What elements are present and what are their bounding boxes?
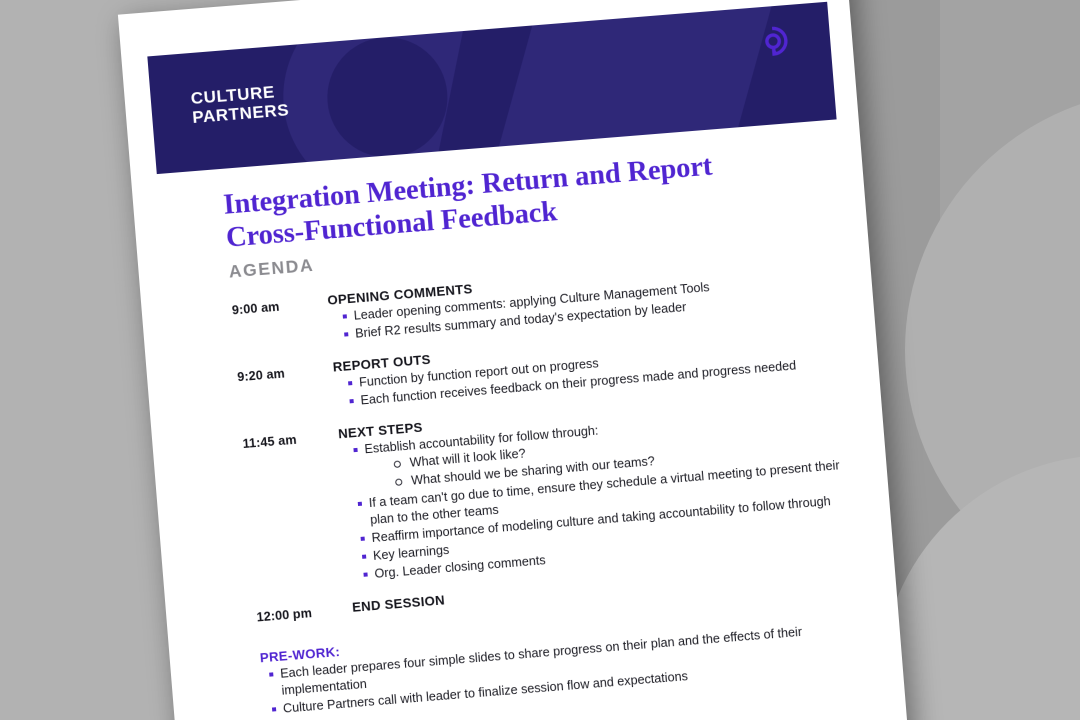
agenda-time: 9:20 am [237,360,334,385]
agenda-row: 11:45 amNEXT STEPSEstablish accountabili… [242,387,847,594]
agenda-list: 9:00 amOPENING COMMENTSLeader opening co… [231,253,849,625]
document-page-wrapper: CULTURE PARTNERS Integration Meeting: Re… [118,0,916,720]
agenda-content: NEXT STEPSEstablish accountability for f… [338,387,847,586]
agenda-time: 11:45 am [242,427,339,452]
background-circle-right-lower [880,455,1080,720]
prework-section: PRE-WORK: Each leader prepares four simp… [259,603,857,720]
screenshot-stage: CULTURE PARTNERS Integration Meeting: Re… [0,0,1080,720]
document-body: Integration Meeting: Return and Report C… [222,141,857,720]
document-page: CULTURE PARTNERS Integration Meeting: Re… [118,0,916,720]
speech-bubble-icon [755,23,792,60]
brand-logo-text: CULTURE PARTNERS [190,81,290,127]
agenda-time: 9:00 am [231,293,328,318]
agenda-time: 12:00 pm [256,600,353,625]
